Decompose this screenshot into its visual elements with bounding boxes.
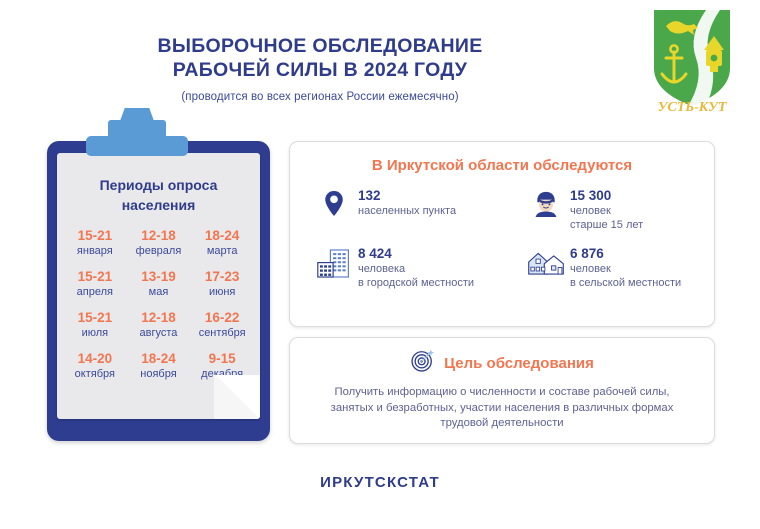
period-range: 15-21 [63, 227, 127, 244]
period-month: января [63, 244, 127, 259]
period-month: августа [127, 326, 191, 341]
period-month: ноября [127, 367, 191, 382]
period-range: 13-19 [127, 268, 191, 285]
stat-value: 6 876 [570, 246, 681, 262]
goal-description-line-3: трудовой деятельности [318, 416, 686, 432]
period-range: 17-23 [190, 268, 254, 285]
page-title-line-1: ВЫБОРОЧНОЕ ОБСЛЕДОВАНИЕ [0, 34, 640, 58]
period-month: сентября [190, 326, 254, 341]
stat-label-line-1: человек [570, 204, 643, 218]
period-item: 15-21 января [63, 227, 127, 259]
stat-label-line-2: в сельской местности [570, 276, 681, 290]
page-subtitle: (проводится во всех регионах России ежем… [0, 91, 640, 103]
period-range: 15-21 [63, 268, 127, 285]
stat-persons-over-15: 15 300 человек старше 15 лет [502, 188, 714, 232]
period-range: 12-18 [127, 227, 191, 244]
stat-value: 8 424 [358, 246, 474, 262]
period-month: марта [190, 244, 254, 259]
period-month: октября [63, 367, 127, 382]
period-item: 17-23 июня [190, 268, 254, 300]
region-card-heading: В Иркутской области обследуются [290, 157, 714, 174]
ust-kut-logo: УСТЬ-КУТ [644, 6, 740, 114]
logo-caption: УСТЬ-КУТ [658, 100, 728, 114]
stat-urban-text: 8 424 человека в городской местности [356, 246, 474, 290]
period-item: 13-19 мая [127, 268, 191, 300]
period-month: июля [63, 326, 127, 341]
stat-value: 132 [358, 188, 456, 204]
period-range: 9-15 [190, 350, 254, 367]
target-icon [410, 348, 435, 378]
page-header: ВЫБОРОЧНОЕ ОБСЛЕДОВАНИЕ РАБОЧЕЙ СИЛЫ В 2… [0, 34, 640, 103]
stat-value: 15 300 [570, 188, 643, 204]
person-icon [524, 188, 568, 218]
goal-description-line-1: Получить информацию о численности и сост… [318, 385, 686, 401]
region-stats-grid: 132 населенных пункта 15 300 человек [290, 188, 714, 290]
stat-label-line-1: населенных пункта [358, 204, 456, 218]
stat-label-line-1: человек [570, 262, 681, 276]
stat-label-line-2: в городской местности [358, 276, 474, 290]
clipboard-title: Периоды опроса населения [57, 175, 260, 215]
goal-description: Получить информацию о численности и сост… [318, 385, 686, 432]
period-month: июня [190, 285, 254, 300]
period-month: мая [127, 285, 191, 300]
period-range: 18-24 [190, 227, 254, 244]
clipboard-title-line-1: Периоды опроса [57, 175, 260, 195]
stat-settlements-text: 132 населенных пункта [356, 188, 456, 218]
page-title-line-2: РАБОЧЕЙ СИЛЫ В 2024 ГОДУ [0, 58, 640, 82]
period-item: 12-18 февраля [127, 227, 191, 259]
goal-description-line-2: занятых и безработных, участии населения… [318, 401, 686, 417]
city-buildings-icon [312, 246, 356, 279]
stat-rural-population: 6 876 человек в сельской местности [502, 246, 714, 290]
rural-houses-icon [524, 246, 568, 276]
goal-header: Цель обследования [290, 348, 714, 378]
stat-persons-text: 15 300 человек старше 15 лет [568, 188, 643, 232]
period-item: 16-22 сентября [190, 309, 254, 341]
period-month: апреля [63, 285, 127, 300]
period-range: 18-24 [127, 350, 191, 367]
stat-label-line-1: человека [358, 262, 474, 276]
survey-periods-clipboard: Периоды опроса населения 15-21 января 12… [47, 141, 270, 441]
period-item: 18-24 ноября [127, 350, 191, 382]
period-range: 12-18 [127, 309, 191, 326]
goal-title: Цель обследования [444, 355, 594, 372]
period-range: 16-22 [190, 309, 254, 326]
map-pin-icon [312, 188, 356, 217]
period-range: 15-21 [63, 309, 127, 326]
period-item: 18-24 марта [190, 227, 254, 259]
stat-settlements: 132 населенных пункта [290, 188, 502, 232]
clipboard-title-line-2: населения [57, 195, 260, 215]
period-item: 14-20 октября [63, 350, 127, 382]
coat-of-arms-icon: УСТЬ-КУТ [644, 6, 740, 114]
stat-label-line-2: старше 15 лет [570, 218, 643, 232]
footer-organization: ИРКУТСКСТАТ [0, 474, 760, 491]
period-item: 12-18 августа [127, 309, 191, 341]
stat-rural-text: 6 876 человек в сельской местности [568, 246, 681, 290]
period-month: февраля [127, 244, 191, 259]
paper-fold-corner [214, 375, 260, 419]
stat-urban-population: 8 424 человека в городской местности [290, 246, 502, 290]
period-item: 15-21 апреля [63, 268, 127, 300]
region-stats-card: В Иркутской области обследуются 132 насе… [289, 141, 715, 327]
clipboard-clip [108, 120, 166, 154]
survey-goal-card: Цель обследования Получить информацию о … [289, 337, 715, 444]
period-item: 15-21 июля [63, 309, 127, 341]
period-range: 14-20 [63, 350, 127, 367]
survey-periods-grid: 15-21 января 12-18 февраля 18-24 марта 1… [63, 227, 254, 382]
clipboard-paper: Периоды опроса населения 15-21 января 12… [57, 153, 260, 419]
